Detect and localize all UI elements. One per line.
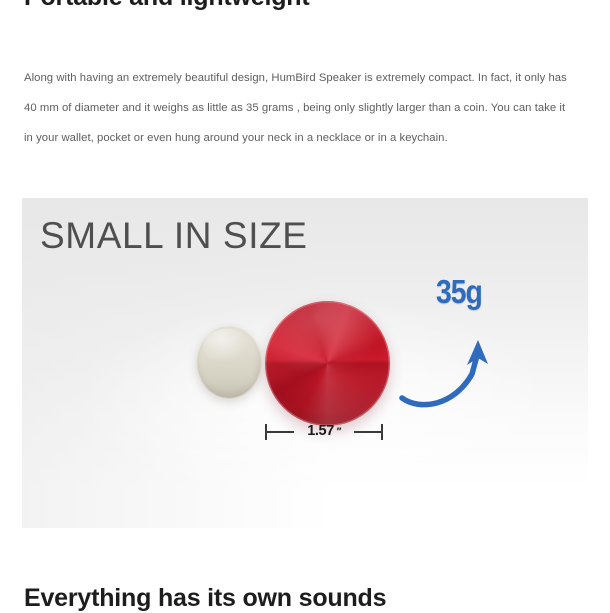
dimension-value: 1.57 xyxy=(307,423,334,439)
red-speaker-disc-rim xyxy=(265,301,390,426)
dimension-text: 1.57" xyxy=(293,421,355,442)
page-heading-everything-sounds: Everything has its own sounds xyxy=(24,583,564,613)
article-page: Portable and lightweight Along with havi… xyxy=(0,0,610,610)
body-paragraph: Along with having an extremely beautiful… xyxy=(24,63,576,153)
dimension-measurement: 1.57" xyxy=(265,420,383,444)
page-heading-portable: Portable and lightweight xyxy=(24,0,564,12)
dimension-unit: " xyxy=(334,426,341,438)
banner-title-small-in-size: SMALL IN SIZE xyxy=(40,214,308,258)
dimension-line-left xyxy=(265,431,294,433)
weight-callout-label: 35g xyxy=(436,274,482,310)
curved-up-arrow-icon xyxy=(390,316,520,416)
product-size-banner: SMALL IN SIZE 35g 1.57" xyxy=(22,198,588,528)
dimension-line-right xyxy=(354,431,383,433)
dimension-cap-right xyxy=(381,424,383,440)
comparison-coin xyxy=(196,325,262,399)
